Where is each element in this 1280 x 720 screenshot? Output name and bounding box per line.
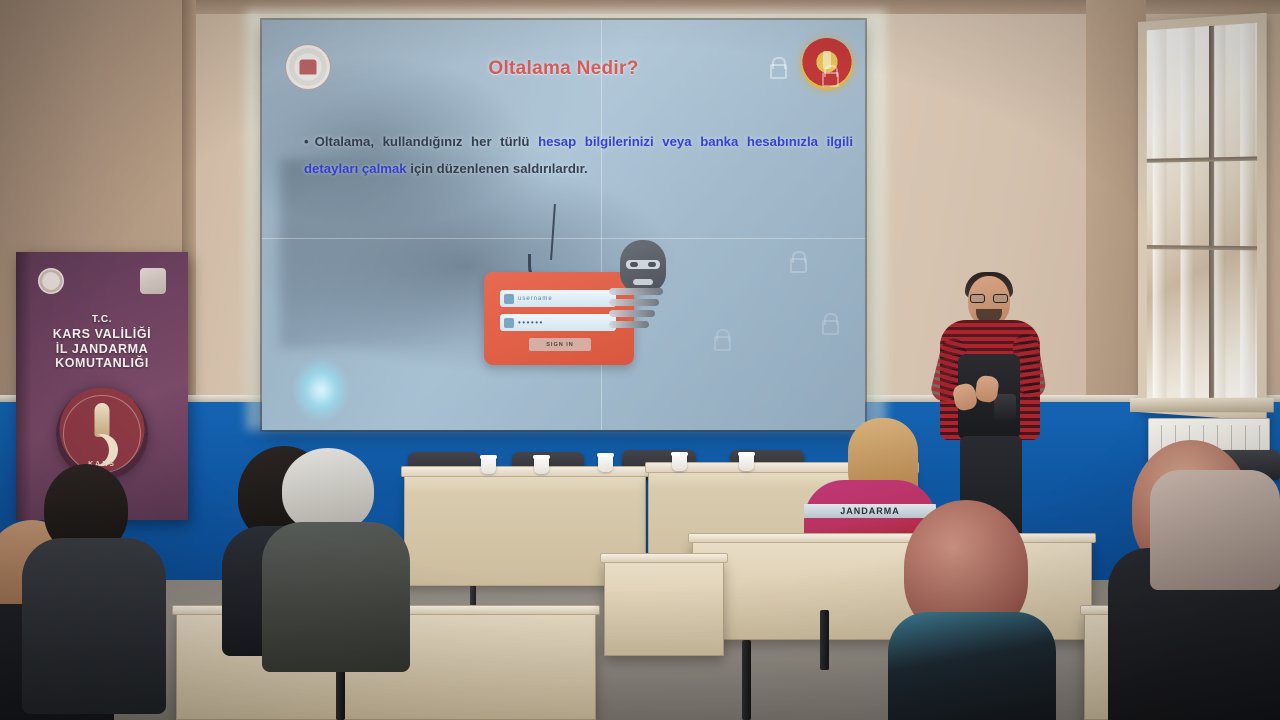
banner-line-1: T.C. [16,314,188,325]
vest-pouch [994,394,1016,420]
banner-secondary-logo-icon [140,268,166,294]
banner-text: T.C. KARS VALİLİĞİ İL JANDARMA KOMUTANLI… [16,314,188,370]
hacker-eyes [626,260,660,269]
paper-cup [672,452,687,471]
eyeglasses-icon [970,294,1008,303]
lock-icon [504,318,514,328]
username-field: username [500,290,616,307]
sign-in-button: SIGN IN [529,338,591,351]
password-value: •••••• [518,318,544,327]
username-value: username [518,296,553,302]
paper-cup [598,453,613,472]
banner-line-3: İL JANDARMA KOMUTANLIĞI [16,342,188,370]
paper-cup [534,455,549,474]
banner-emblem-blade [95,403,110,437]
slide-body-part-2: için düzenlenen saldırılardır. [407,161,588,176]
bench-leg [742,640,751,720]
slide-body-text: •Oltalama, kullandığınız her türlü hesap… [304,128,853,182]
phishing-illustration: username •••••• SIGN IN [472,210,687,375]
password-field: •••••• [500,314,616,331]
jandarma-vest-text: JANDARMA [840,506,900,516]
masked-hacker-icon [620,240,666,292]
paper-cup [481,455,496,474]
bench-desk [604,560,724,656]
window-glass [1147,23,1257,411]
seminar-photo: Oltalama Nedir? •Oltalama, kullandığınız… [0,0,1280,720]
fishing-line-icon [550,204,556,260]
hacker-mouth [633,279,653,285]
slide-bullet: • [304,134,309,149]
projector-glare [292,358,350,422]
right-wall-pier [1086,0,1146,412]
window-sill [1130,398,1274,413]
banner-line-2: KARS VALİLİĞİ [16,327,188,341]
paper-cup [739,452,754,471]
banner-ministry-logo-icon [38,268,64,294]
slide-body-part-1: Oltalama, kullandığınız her türlü [315,134,538,149]
window-with-curtain [1138,13,1267,422]
projection-screen: Oltalama Nedir? •Oltalama, kullandığınız… [262,20,865,430]
slide-title: Oltalama Nedir? [262,58,865,80]
hacker-hand [609,288,667,332]
bench-leg [820,610,829,670]
user-icon [504,294,514,304]
